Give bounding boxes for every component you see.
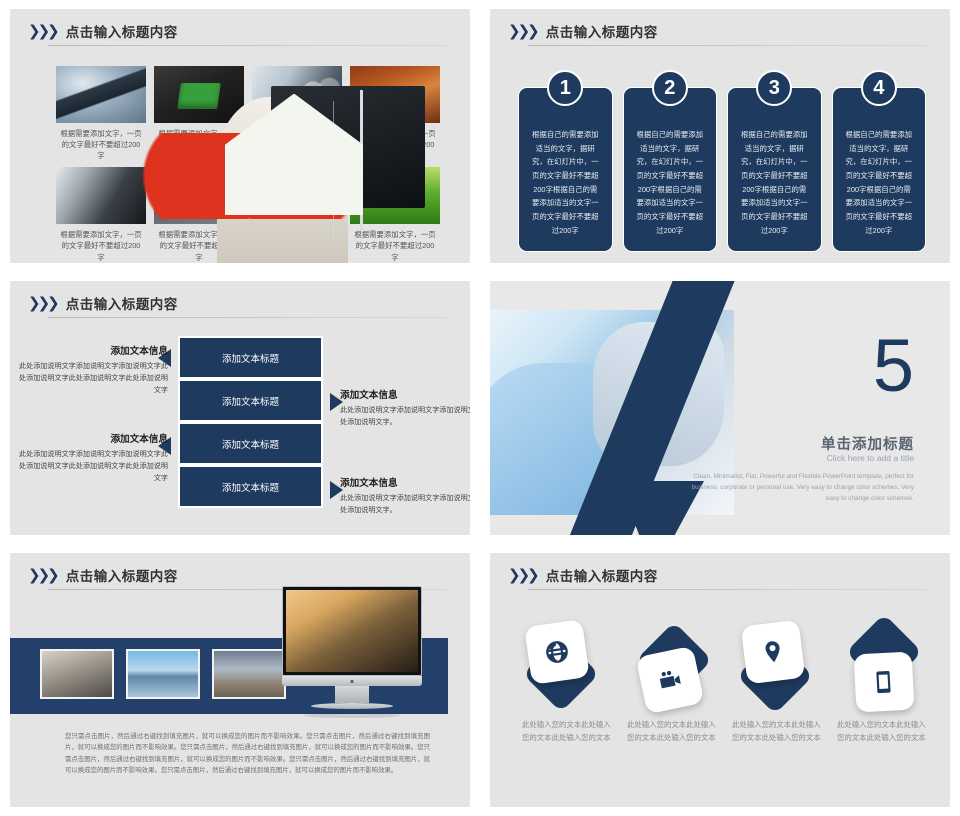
photo-cell[interactable]: 根据需要添加文字，一页的文字最好不要超过200字 [56, 66, 146, 161]
icon-label: 此处输入您的文本此处输入您的文本此处输入您的文本 [522, 719, 613, 744]
card-number-badge: 2 [652, 70, 688, 106]
photo-caption: 根据需要添加文字，一页的文字最好不要超过200字 [350, 229, 440, 262]
process-side-block: 添加文本信息 此处添加说明文字添加说明文字添加说明文字此处添加说明文字。 [340, 387, 470, 428]
section-header: ❯❯❯ 点击输入标题内容 [28, 293, 452, 313]
hero-paragraph: Clean, Minimalist, Flat, Powerful and Fl… [684, 471, 914, 504]
icon-tile[interactable] [524, 619, 590, 685]
hero-number: 5 [873, 329, 914, 403]
slide-grid: ❯❯❯ 点击输入标题内容 根据需要添加文字，一页的文字最好不要超过200字 根据… [0, 0, 960, 816]
section-title: 点击输入标题内容 [546, 565, 658, 585]
process-bar[interactable]: 添加文本标题 [178, 379, 323, 422]
header-divider [528, 45, 928, 46]
icon-item[interactable]: 此处输入您的文本此处输入您的文本此处输入您的文本 [621, 611, 720, 791]
side-block-title: 添加文本信息 [340, 387, 470, 401]
photo-cell[interactable]: 根据需要添加文字，一页的文字最好不要超过200字 [56, 167, 146, 262]
laptops-photo [56, 66, 146, 123]
chevrons-icon: ❯❯❯ [28, 24, 57, 39]
monitor-foot [311, 703, 393, 709]
section-title: 点击输入标题内容 [546, 21, 658, 41]
woman-typing-photo [56, 167, 146, 224]
monitor-shadow [304, 713, 400, 718]
section-header: ❯❯❯ 点击输入标题内容 [508, 21, 932, 41]
section-header: ❯❯❯ 点击输入标题内容 [508, 565, 932, 585]
numbered-card[interactable]: 1 根据自己的需要添加适当的文字，据研究，在幻灯片中，一页的文字最好不要超200… [518, 87, 613, 252]
monitor-base [282, 676, 422, 686]
slide-numbered-cards: ❯❯❯ 点击输入标题内容 1 根据自己的需要添加适当的文字，据研究，在幻灯片中，… [490, 9, 950, 263]
photo-caption: 根据需要添加文字，一页的文字最好不要超过200字 [56, 128, 146, 161]
location-pin-icon [759, 638, 788, 667]
slide-hero-number: 5 单击添加标题 Click here to add a title Clean… [490, 281, 950, 535]
icon-tile[interactable] [854, 652, 915, 713]
modern-building-photo[interactable] [212, 649, 286, 699]
icon-label: 此处输入您的文本此处输入您的文本此处输入您的文本 [732, 719, 823, 744]
chevrons-icon: ❯❯❯ [28, 296, 57, 311]
photo-grid: 根据需要添加文字，一页的文字最好不要超过200字 根据需要添加文字，一页的文字最… [56, 66, 440, 263]
card-text: 根据自己的需要添加适当的文字，据研究，在幻灯片中，一页的文字最好不要超200字根… [739, 128, 810, 238]
card-number-badge: 1 [547, 70, 583, 106]
numbered-card[interactable]: 2 根据自己的需要添加适当的文字，据研究，在幻灯片中，一页的文字最好不要超200… [623, 87, 718, 252]
card-row: 1 根据自己的需要添加适当的文字，据研究，在幻灯片中，一页的文字最好不要超200… [518, 87, 926, 252]
icon-row: 此处输入您的文本此处输入您的文本此处输入您的文本 此处输入您的文本此处输入您的文… [516, 611, 930, 791]
photo-caption: 根据需要添加文字，一页的文字最好不要超过200字 [56, 229, 146, 262]
hero-container: 5 单击添加标题 Click here to add a title Clean… [490, 281, 950, 535]
section-header: ❯❯❯ 点击输入标题内容 [28, 21, 452, 41]
globe-icon [542, 637, 571, 666]
process-side-block: 添加文本信息 此处添加说明文字添加说明文字添加说明文字此处添加说明文字此处添加说… [18, 343, 168, 396]
slide-monitor-showcase: ❯❯❯ 点击输入标题内容 您只需点击图片，然后通过右键找到填充图片，就可以换成您… [10, 553, 470, 807]
process-bar-stack: 添加文本标题 添加文本标题 添加文本标题 添加文本标题 [178, 336, 323, 508]
card-number-badge: 3 [756, 70, 792, 106]
side-block-title: 添加文本信息 [18, 431, 168, 445]
side-block-body: 此处添加说明文字添加说明文字添加说明文字此处添加说明文字。 [340, 492, 470, 516]
header-divider [528, 589, 928, 590]
numbered-card[interactable]: 4 根据自己的需要添加适当的文字，据研究，在幻灯片中，一页的文字最好不要超200… [832, 87, 927, 252]
header-divider [48, 317, 448, 318]
monitor-neck [335, 686, 369, 703]
icon-label: 此处输入您的文本此处输入您的文本此处输入您的文本 [627, 719, 718, 744]
monitor-power-dot-icon [351, 680, 354, 683]
section-title: 点击输入标题内容 [66, 21, 178, 41]
numbered-card[interactable]: 3 根据自己的需要添加适当的文字，据研究，在幻灯片中，一页的文字最好不要超200… [727, 87, 822, 252]
hero-subtitle: Click here to add a title [827, 453, 914, 463]
side-block-body: 此处添加说明文字添加说明文字添加说明文字此处添加说明文字。 [340, 404, 470, 428]
chevrons-icon: ❯❯❯ [508, 24, 537, 39]
monitor-mockup [282, 586, 422, 718]
section-title: 点击输入标题内容 [66, 565, 178, 585]
process-bar[interactable]: 添加文本标题 [178, 465, 323, 508]
chevrons-icon: ❯❯❯ [508, 568, 537, 583]
slide-process-diagram: ❯❯❯ 点击输入标题内容 添加文本标题 添加文本标题 添加文本标题 添加文本标题… [10, 281, 470, 535]
process-bar[interactable]: 添加文本标题 [178, 336, 323, 379]
icon-tile[interactable] [636, 646, 705, 715]
card-text: 根据自己的需要添加适当的文字，据研究，在幻灯片中，一页的文字最好不要超200字根… [635, 128, 706, 238]
process-side-block: 添加文本信息 此处添加说明文字添加说明文字添加说明文字此处添加说明文字。 [340, 475, 470, 516]
slide-icon-row: ❯❯❯ 点击输入标题内容 此处输入您的文本此处输入您的文本此处输入您的文本 [490, 553, 950, 807]
slide-photo-grid: ❯❯❯ 点击输入标题内容 根据需要添加文字，一页的文字最好不要超过200字 根据… [10, 9, 470, 263]
monitor-screen[interactable] [282, 586, 422, 676]
icon-item[interactable]: 此处输入您的文本此处输入您的文本此处输入您的文本 [831, 611, 930, 791]
keyboard-cart-key-photo [154, 66, 244, 123]
thumbnail-strip [40, 649, 286, 699]
hero-title: 单击添加标题 [821, 433, 914, 454]
chevrons-icon: ❯❯❯ [28, 568, 57, 583]
card-number-badge: 4 [861, 70, 897, 106]
icon-tile[interactable] [741, 620, 806, 685]
icon-label: 此处输入您的文本此处输入您的文本此处输入您的文本 [837, 719, 928, 744]
section-header: ❯❯❯ 点击输入标题内容 [28, 565, 452, 585]
icon-item[interactable]: 此处输入您的文本此处输入您的文本此处输入您的文本 [726, 611, 825, 791]
body-paragraph: 您只需点击图片，然后通过右键找到填充图片，就可以换成您的图片而不影响效果。您只需… [65, 731, 430, 777]
side-block-body: 此处添加说明文字添加说明文字添加说明文字此处添加说明文字此处添加说明文字此处添加… [18, 360, 168, 396]
mobile-chart-icon [870, 668, 897, 695]
station-platform-photo[interactable] [40, 649, 114, 699]
process-side-block: 添加文本信息 此处添加说明文字添加说明文字添加说明文字此处添加说明文字此处添加说… [18, 431, 168, 484]
section-title: 点击输入标题内容 [66, 293, 178, 313]
side-block-title: 添加文本信息 [340, 475, 470, 489]
process-bar[interactable]: 添加文本标题 [178, 422, 323, 465]
city-skyline-water-photo[interactable] [126, 649, 200, 699]
header-divider [48, 45, 448, 46]
living-room-interior-photo [286, 590, 418, 672]
card-text: 根据自己的需要添加适当的文字，据研究，在幻灯片中，一页的文字最好不要超200字根… [530, 128, 601, 238]
card-text: 根据自己的需要添加适当的文字，据研究，在幻灯片中，一页的文字最好不要超200字根… [844, 128, 915, 238]
side-block-body: 此处添加说明文字添加说明文字添加说明文字此处添加说明文字此处添加说明文字此处添加… [18, 448, 168, 484]
side-block-title: 添加文本信息 [18, 343, 168, 357]
video-camera-icon [655, 665, 686, 696]
icon-item[interactable]: 此处输入您的文本此处输入您的文本此处输入您的文本 [516, 611, 615, 791]
